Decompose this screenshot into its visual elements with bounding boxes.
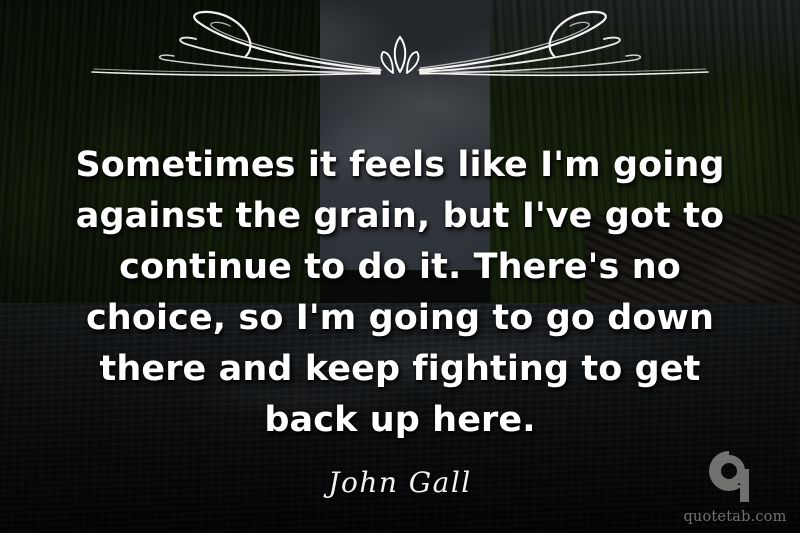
quote-text: Sometimes it feels like I'm going agains… bbox=[64, 140, 736, 446]
quote-card: Sometimes it feels like I'm going agains… bbox=[0, 0, 800, 533]
watermark-label: quotetab.com bbox=[683, 509, 786, 525]
flourish-divider-icon bbox=[80, 6, 720, 90]
quotetab-q-logo-icon bbox=[707, 449, 763, 507]
watermark[interactable]: quotetab.com bbox=[680, 439, 790, 525]
